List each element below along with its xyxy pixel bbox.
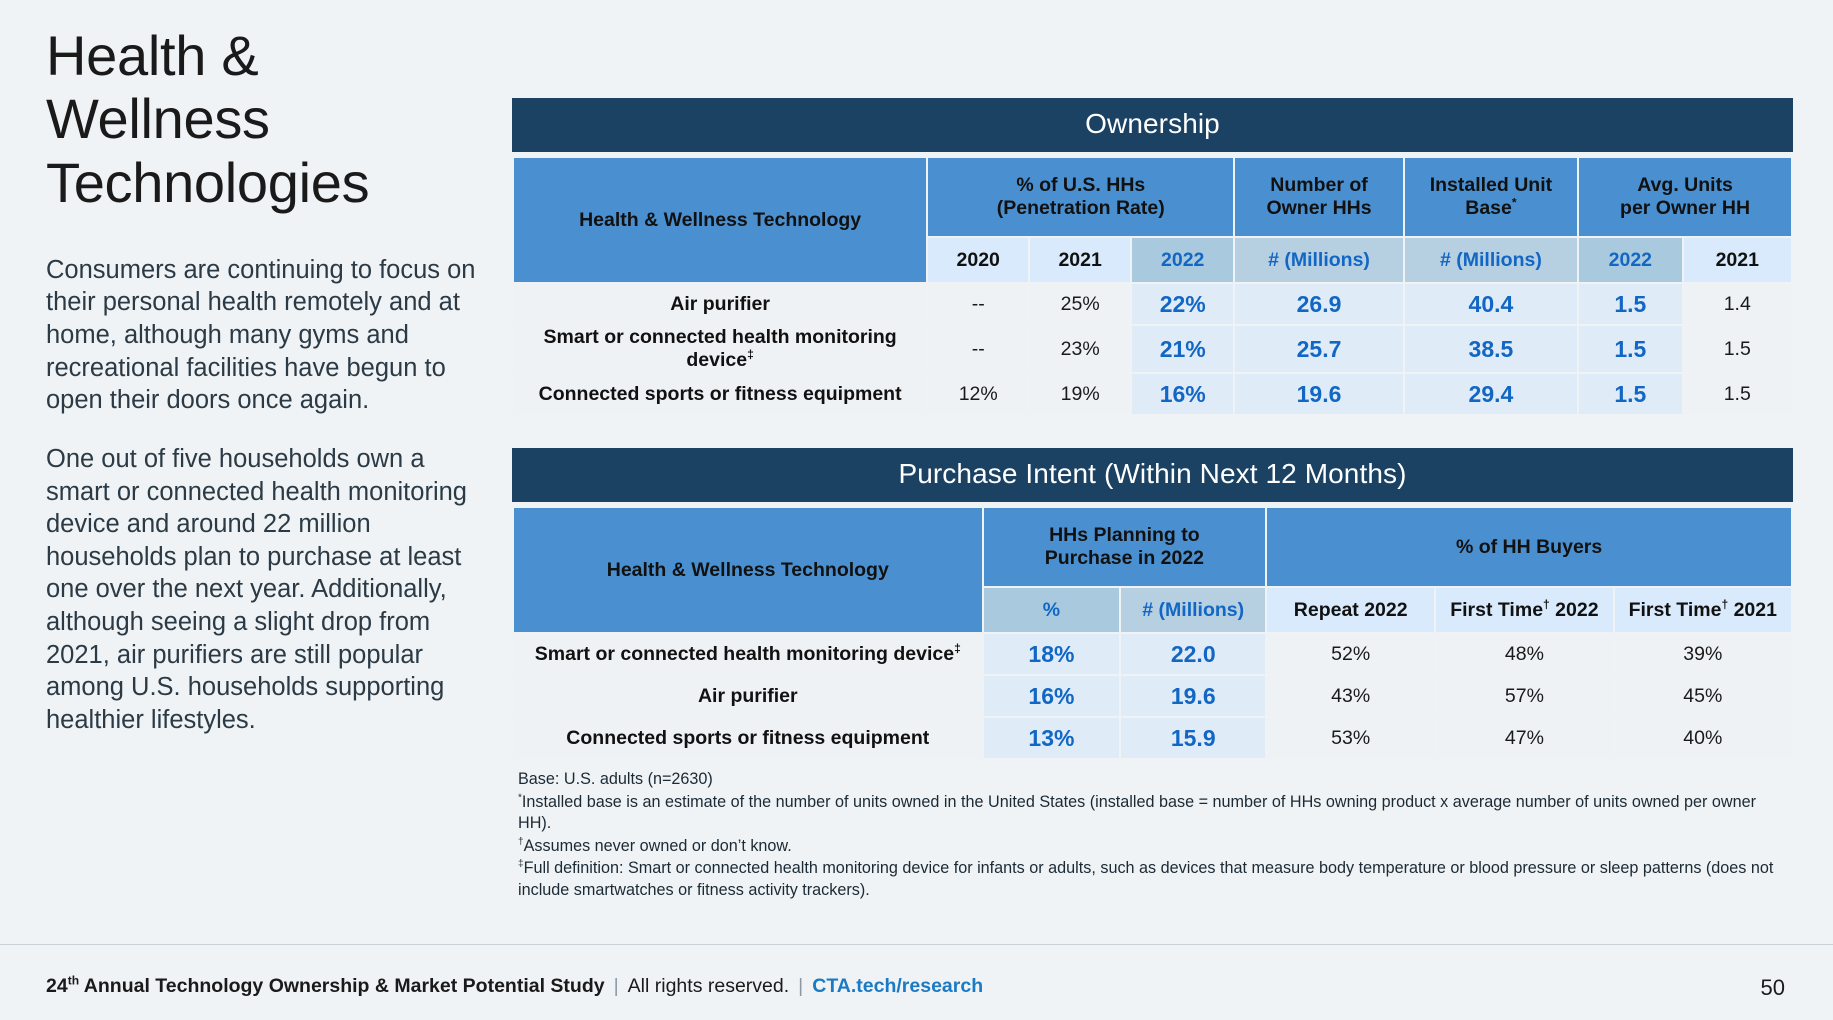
footer-divider (0, 944, 1833, 945)
ownership-row-label-text: Connected sports or fitness equipment (539, 383, 902, 405)
footer-separator-1: | (614, 975, 619, 998)
ownership-cell-pen2020: -- (928, 284, 1028, 324)
first-time-2022-sup: † (1543, 597, 1550, 611)
purchase-intent-row-label: Smart or connected health monitoring dev… (514, 634, 982, 674)
ownership-subheader-2021: 2021 (1030, 238, 1130, 282)
ownership-row-label: Connected sports or fitness equipment (514, 374, 926, 414)
purchase-intent-cell-pct: 13% (984, 718, 1120, 758)
purchase-intent-header-planning-line2: Purchase in 2022 (1045, 547, 1204, 569)
purchase-intent-row-label: Air purifier (514, 676, 982, 716)
table-row: Air purifier 16% 19.6 43% 57% 45% (514, 676, 1791, 716)
ownership-subheader-2022: 2022 (1132, 238, 1233, 282)
footnote-dagger: †Assumes never owned or don’t know. (518, 836, 1793, 858)
ownership-cell-avg2022: 1.5 (1579, 374, 1681, 414)
purchase-intent-cell-repeat-2022: 52% (1267, 634, 1434, 674)
purchase-intent-header-row: Health & Wellness Technology HHs Plannin… (514, 508, 1791, 586)
ownership-cell-owner-hhs: 25.7 (1235, 326, 1402, 372)
footer-study-ordinal: th (68, 974, 79, 988)
first-time-2021-text: First Time (1629, 599, 1722, 621)
footnote-star: *Installed base is an estimate of the nu… (518, 792, 1793, 835)
purchase-intent-cell-first-time-2022: 47% (1436, 718, 1612, 758)
ownership-header-installed-base-line1: Installed Unit (1430, 174, 1552, 196)
ownership-cell-owner-hhs: 26.9 (1235, 284, 1402, 324)
ownership-band-title: Ownership (512, 98, 1793, 152)
first-time-2021-year: 2021 (1728, 599, 1777, 621)
ownership-subheader-avg-2021: 2021 (1684, 238, 1791, 282)
purchase-intent-row-label-text: Smart or connected health monitoring dev… (535, 643, 954, 665)
footer: 24th Annual Technology Ownership & Marke… (46, 975, 983, 998)
page-title: Health & Wellness Technologies (46, 18, 486, 214)
purchase-intent-subheader-first-time-2021: First Time† 2021 (1615, 588, 1791, 632)
table-row: Connected sports or fitness equipment 12… (514, 374, 1791, 414)
ownership-cell-installed-base: 38.5 (1405, 326, 1577, 372)
ownership-row-label-sup: ‡ (747, 348, 754, 362)
ownership-subheader-2020: 2020 (928, 238, 1028, 282)
ownership-header-penetration: % of U.S. HHs (Penetration Rate) (928, 158, 1233, 236)
body-paragraph-2: One out of five households own a smart o… (46, 443, 486, 737)
purchase-intent-row-label-sup: ‡ (954, 641, 961, 655)
ownership-header-owner-hhs-line2: Owner HHs (1266, 197, 1371, 219)
ownership-header-owner-hhs: Number of Owner HHs (1235, 158, 1402, 236)
ownership-row-label: Smart or connected health monitoring dev… (514, 326, 926, 372)
purchase-intent-header-planning: HHs Planning to Purchase in 2022 (984, 508, 1266, 586)
purchase-intent-header-buyers: % of HH Buyers (1267, 508, 1791, 586)
ownership-subheader-owner-millions: # (Millions) (1235, 238, 1402, 282)
ownership-cell-installed-base: 29.4 (1405, 374, 1577, 414)
footnote-star-text: Installed base is an estimate of the num… (518, 793, 1756, 833)
ownership-cell-avg2022: 1.5 (1579, 284, 1681, 324)
ownership-header-owner-hhs-line1: Number of (1270, 174, 1368, 196)
ownership-cell-pen2022: 21% (1132, 326, 1233, 372)
first-time-2022-text: First Time (1450, 599, 1543, 621)
first-time-2022-year: 2022 (1550, 599, 1599, 621)
left-column: Health & Wellness Technologies Consumers… (46, 18, 486, 737)
ownership-header-avg-units-line1: Avg. Units (1637, 174, 1733, 196)
purchase-intent-cell-first-time-2022: 48% (1436, 634, 1612, 674)
body-copy: Consumers are continuing to focus on the… (46, 254, 486, 737)
purchase-intent-cell-millions: 19.6 (1121, 676, 1265, 716)
installed-base-footnote-marker: * (1512, 196, 1517, 210)
ownership-cell-pen2020: -- (928, 326, 1028, 372)
footnote-base: Base: U.S. adults (n=2630) (518, 769, 1793, 791)
ownership-header-technology: Health & Wellness Technology (514, 158, 926, 282)
purchase-intent-row-label-text: Air purifier (698, 685, 798, 707)
ownership-row-label: Air purifier (514, 284, 926, 324)
ownership-cell-avg2021: 1.5 (1684, 374, 1791, 414)
ownership-subheader-installed-millions: # (Millions) (1405, 238, 1577, 282)
ownership-header-installed-base: Installed Unit Base* (1405, 158, 1577, 236)
table-row: Smart or connected health monitoring dev… (514, 634, 1791, 674)
purchase-intent-row-label-text: Connected sports or fitness equipment (566, 727, 929, 749)
purchase-intent-cell-repeat-2022: 53% (1267, 718, 1434, 758)
ownership-row-label-text: Smart or connected health monitoring dev… (544, 326, 897, 371)
purchase-intent-header-technology: Health & Wellness Technology (514, 508, 982, 632)
footer-study-title: 24th Annual Technology Ownership & Marke… (46, 975, 605, 998)
purchase-intent-subheader-first-time-2022: First Time† 2022 (1436, 588, 1612, 632)
ownership-header-penetration-line1: % of U.S. HHs (1016, 174, 1145, 196)
ownership-header-installed-base-line2: Base (1465, 197, 1512, 219)
slide-root: Health & Wellness Technologies Consumers… (0, 0, 1833, 1020)
purchase-intent-header-planning-line1: HHs Planning to (1049, 524, 1200, 546)
ownership-cell-owner-hhs: 19.6 (1235, 374, 1402, 414)
purchase-intent-subheader-repeat-2022: Repeat 2022 (1267, 588, 1434, 632)
ownership-cell-pen2020: 12% (928, 374, 1028, 414)
ownership-cell-installed-base: 40.4 (1405, 284, 1577, 324)
purchase-intent-cell-millions: 15.9 (1121, 718, 1265, 758)
ownership-cell-avg2021: 1.4 (1684, 284, 1791, 324)
footer-separator-2: | (798, 975, 803, 998)
ownership-cell-pen2021: 23% (1030, 326, 1130, 372)
ownership-header-row: Health & Wellness Technology % of U.S. H… (514, 158, 1791, 236)
table-row: Smart or connected health monitoring dev… (514, 326, 1791, 372)
ownership-header-avg-units: Avg. Units per Owner HH (1579, 158, 1791, 236)
table-row: Connected sports or fitness equipment 13… (514, 718, 1791, 758)
ownership-header-penetration-line2: (Penetration Rate) (997, 197, 1165, 219)
purchase-intent-table: Health & Wellness Technology HHs Plannin… (512, 506, 1793, 760)
footnote-dagger-text: Assumes never owned or don’t know. (524, 837, 792, 855)
purchase-intent-cell-first-time-2021: 40% (1615, 718, 1791, 758)
ownership-cell-pen2022: 16% (1132, 374, 1233, 414)
ownership-cell-pen2021: 25% (1030, 284, 1130, 324)
purchase-intent-cell-pct: 18% (984, 634, 1120, 674)
body-paragraph-1: Consumers are continuing to focus on the… (46, 254, 486, 417)
footer-link[interactable]: CTA.tech/research (812, 975, 983, 998)
purchase-intent-cell-first-time-2021: 39% (1615, 634, 1791, 674)
ownership-cell-pen2021: 19% (1030, 374, 1130, 414)
ownership-cell-pen2022: 22% (1132, 284, 1233, 324)
footer-rights: All rights reserved. (628, 975, 789, 998)
footer-study-prefix: 24 (46, 975, 68, 997)
purchase-intent-band-title: Purchase Intent (Within Next 12 Months) (512, 448, 1793, 502)
purchase-intent-subheader-millions: # (Millions) (1121, 588, 1265, 632)
right-column: Ownership Health & Wellness Technology %… (512, 98, 1793, 902)
ownership-cell-avg2021: 1.5 (1684, 326, 1791, 372)
purchase-intent-cell-pct: 16% (984, 676, 1120, 716)
purchase-intent-cell-repeat-2022: 43% (1267, 676, 1434, 716)
footer-study-name: Annual Technology Ownership & Market Pot… (79, 975, 604, 997)
purchase-intent-cell-first-time-2022: 57% (1436, 676, 1612, 716)
purchase-intent-row-label: Connected sports or fitness equipment (514, 718, 982, 758)
purchase-intent-cell-first-time-2021: 45% (1615, 676, 1791, 716)
table-row: Air purifier -- 25% 22% 26.9 40.4 1.5 1.… (514, 284, 1791, 324)
footnotes-block: Base: U.S. adults (n=2630) *Installed ba… (512, 769, 1793, 901)
ownership-table: Health & Wellness Technology % of U.S. H… (512, 156, 1793, 416)
ownership-subheader-avg-2022: 2022 (1579, 238, 1681, 282)
footnote-doubledagger-text: Full definition: Smart or connected heal… (518, 859, 1773, 899)
ownership-cell-avg2022: 1.5 (1579, 326, 1681, 372)
ownership-row-label-text: Air purifier (670, 293, 770, 315)
page-number: 50 (1761, 975, 1785, 1001)
footnote-doubledagger: ‡Full definition: Smart or connected hea… (518, 858, 1793, 901)
purchase-intent-cell-millions: 22.0 (1121, 634, 1265, 674)
purchase-intent-subheader-pct: % (984, 588, 1120, 632)
ownership-header-avg-units-line2: per Owner HH (1620, 197, 1750, 219)
